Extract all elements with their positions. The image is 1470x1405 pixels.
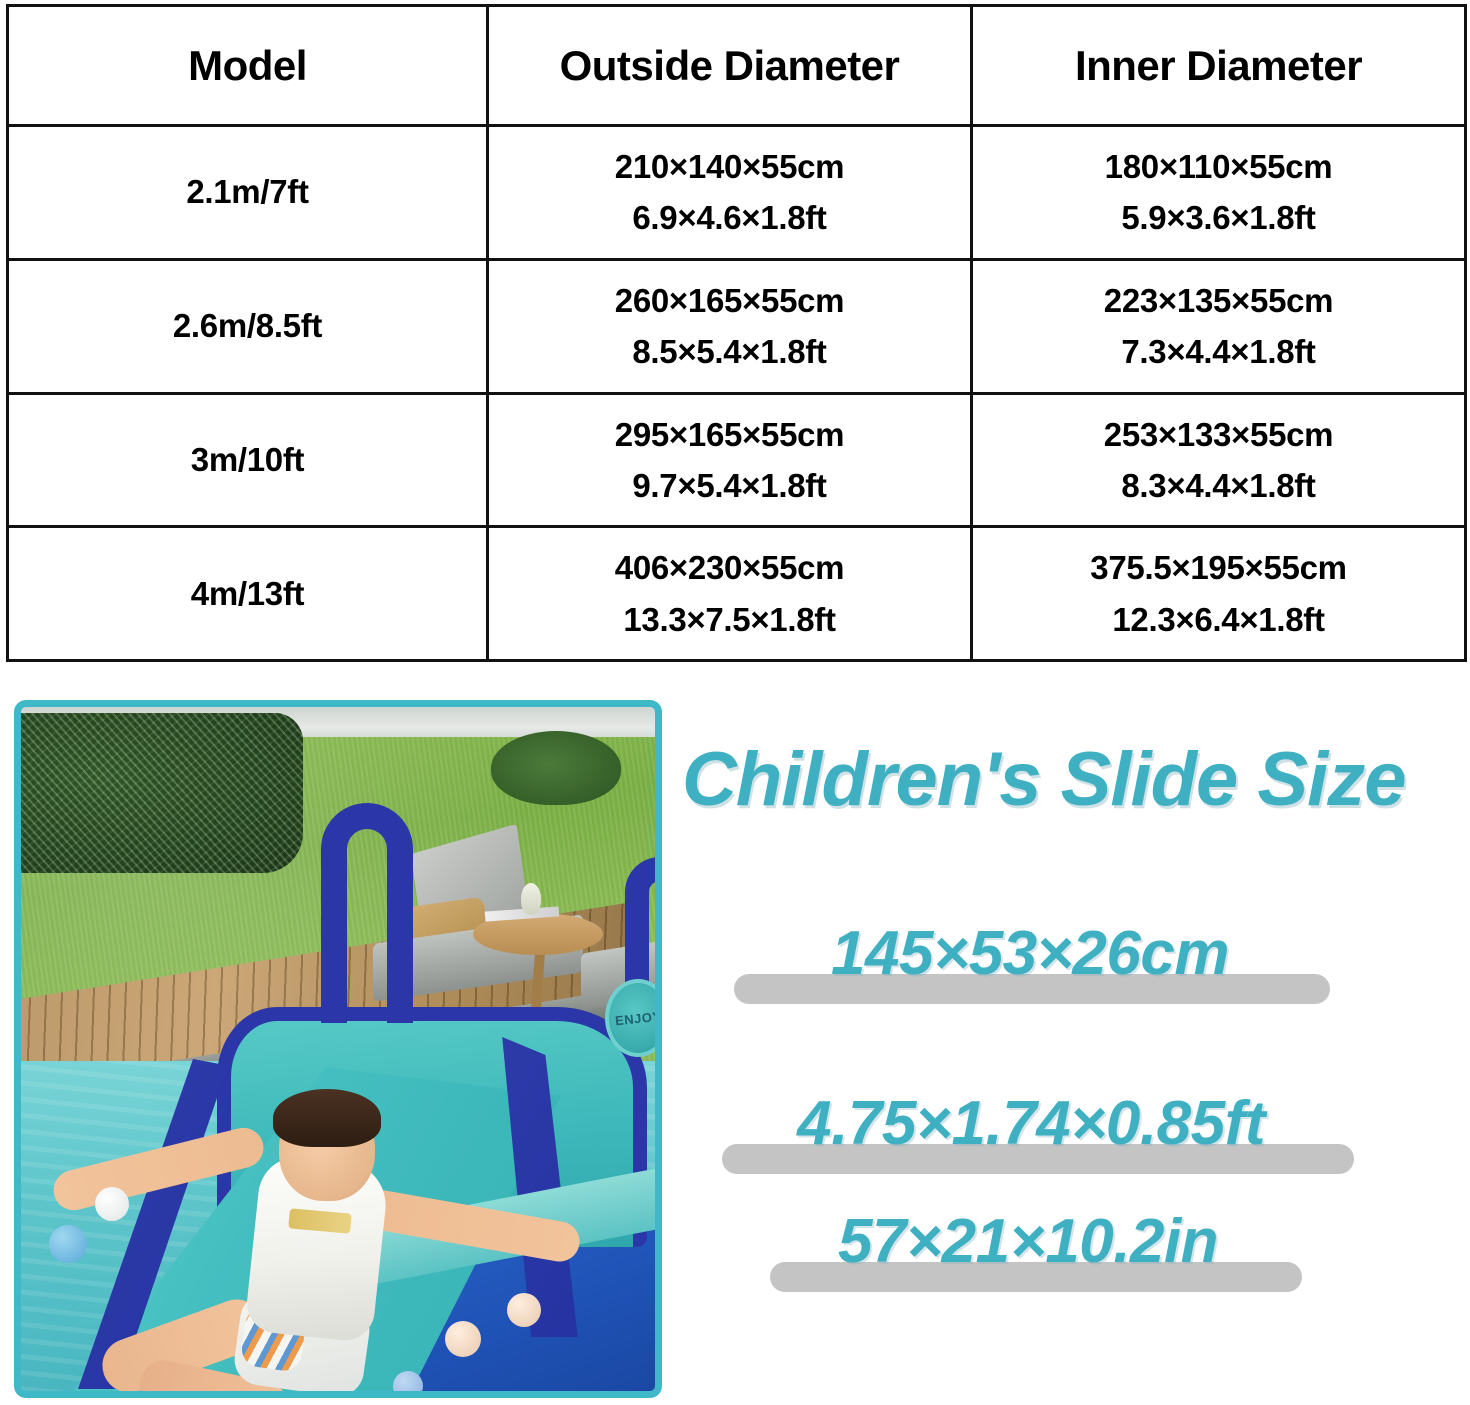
inner-diameter-cm: 223×135×55cm [977,275,1460,326]
outside-diameter-ft: 8.5×5.4×1.8ft [493,326,966,377]
cell-inner-diameter: 375.5×195×55cm 12.3×6.4×1.8ft [972,527,1466,661]
outside-diameter-ft: 13.3×7.5×1.8ft [493,594,966,645]
slide-size-headline: Children's Slide Size [682,736,1470,823]
enjoy-badge-label: ENJOY [614,1008,655,1028]
inner-diameter-ft: 8.3×4.4×1.8ft [977,460,1460,511]
slide-dimension-row-ft: 4.75×1.74×0.85ft [672,1088,1470,1180]
cell-outside-diameter: 260×165×55cm 8.5×5.4×1.8ft [488,259,972,393]
slide-dimension-in: 57×21×10.2in [672,1206,1470,1277]
column-header-inner-diameter: Inner Diameter [972,6,1466,126]
inner-diameter-cm: 253×133×55cm [977,409,1460,460]
table-row: 2.1m/7ft 210×140×55cm 6.9×4.6×1.8ft 180×… [8,126,1466,260]
cell-inner-diameter: 253×133×55cm 8.3×4.4×1.8ft [972,393,1466,527]
inner-diameter-cm: 375.5×195×55cm [977,542,1460,593]
photo-pool-ball [445,1321,481,1357]
outside-diameter-cm: 406×230×55cm [493,542,966,593]
table-row: 2.6m/8.5ft 260×165×55cm 8.5×5.4×1.8ft 22… [8,259,1466,393]
size-table-container: Model Outside Diameter Inner Diameter 2.… [6,4,1464,662]
photo-pool-ball [507,1293,541,1327]
photo-bush [491,731,621,805]
cell-outside-diameter: 210×140×55cm 6.9×4.6×1.8ft [488,126,972,260]
product-photo-frame: ENJOY [14,700,662,1398]
size-table-body: 2.1m/7ft 210×140×55cm 6.9×4.6×1.8ft 180×… [8,126,1466,661]
cell-inner-diameter: 223×135×55cm 7.3×4.4×1.8ft [972,259,1466,393]
cell-model: 3m/10ft [8,393,488,527]
slide-dimension-ft: 4.75×1.74×0.85ft [672,1088,1470,1159]
inner-diameter-ft: 12.3×6.4×1.8ft [977,594,1460,645]
slide-size-section: ENJOY Children's Slide Size [0,678,1470,1405]
photo-pool-ball [49,1225,87,1263]
cell-inner-diameter: 180×110×55cm 5.9×3.6×1.8ft [972,126,1466,260]
cell-model: 4m/13ft [8,527,488,661]
table-row: 4m/13ft 406×230×55cm 13.3×7.5×1.8ft 375.… [8,527,1466,661]
photo-slide-handle-left [321,803,413,1023]
cell-outside-diameter: 295×165×55cm 9.7×5.4×1.8ft [488,393,972,527]
photo-hedge [21,713,303,873]
slide-dimension-cm: 145×53×26cm [672,918,1470,989]
outside-diameter-cm: 295×165×55cm [493,409,966,460]
outside-diameter-cm: 260×165×55cm [493,275,966,326]
slide-dimension-row-cm: 145×53×26cm [672,918,1470,1010]
inner-diameter-ft: 7.3×4.4×1.8ft [977,326,1460,377]
inner-diameter-ft: 5.9×3.6×1.8ft [977,192,1460,243]
cell-outside-diameter: 406×230×55cm 13.3×7.5×1.8ft [488,527,972,661]
product-size-infographic: Model Outside Diameter Inner Diameter 2.… [0,0,1470,1405]
outside-diameter-ft: 6.9×4.6×1.8ft [493,192,966,243]
photo-pool-ball [95,1187,129,1221]
table-header-row: Model Outside Diameter Inner Diameter [8,6,1466,126]
product-photo: ENJOY [21,707,655,1391]
outside-diameter-ft: 9.7×5.4×1.8ft [493,460,966,511]
column-header-outside-diameter: Outside Diameter [488,6,972,126]
photo-vase [521,883,541,915]
cell-model: 2.1m/7ft [8,126,488,260]
table-row: 3m/10ft 295×165×55cm 9.7×5.4×1.8ft 253×1… [8,393,1466,527]
inner-diameter-cm: 180×110×55cm [977,141,1460,192]
slide-size-copy: Children's Slide Size 145×53×26cm 4.75×1… [672,678,1470,1405]
photo-child-hair [273,1089,381,1147]
size-table: Model Outside Diameter Inner Diameter 2.… [6,4,1467,662]
outside-diameter-cm: 210×140×55cm [493,141,966,192]
cell-model: 2.6m/8.5ft [8,259,488,393]
size-table-header: Model Outside Diameter Inner Diameter [8,6,1466,126]
slide-dimension-row-in: 57×21×10.2in [672,1206,1470,1298]
column-header-model: Model [8,6,488,126]
